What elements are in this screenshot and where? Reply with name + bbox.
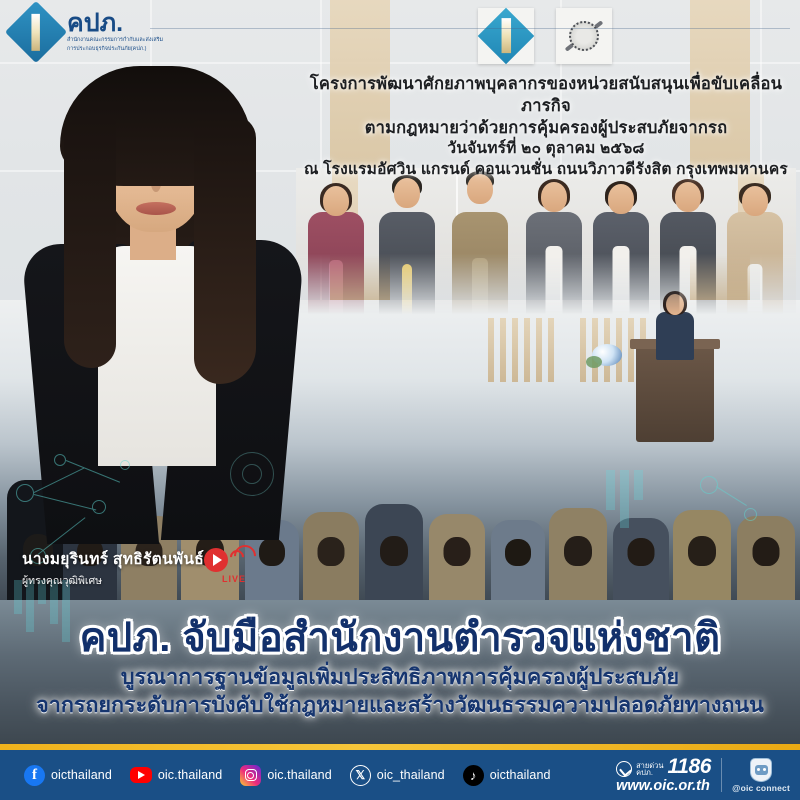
brand-subtitle-1: สำนักงานคณะกรรมการกำกับและส่งเสริม [67,37,163,44]
official-5 [592,184,650,316]
headline-sub-line1: บูรณาการฐานข้อมูลเพิ่มประสิทธิภาพการคุ้ม… [36,664,764,692]
social-x[interactable]: 𝕏 oic_thailand [350,765,445,786]
phone-icon [616,761,632,777]
event-date: วันจันทร์ที่ ๒๐ ตุลาคม ๒๕๖๘ [292,139,800,159]
instagram-handle: oic.thailand [267,768,331,782]
social-tiktok[interactable]: oicthailand [463,765,551,786]
tiktok-handle: oicthailand [490,768,551,782]
headline-block: คปภ. จับมือสำนักงานตำรวจแห่งชาติ บูรณากา… [0,600,800,736]
youtube-icon [130,767,152,783]
x-handle: oic_thailand [377,768,445,782]
brand-subtitle-2: การประกอบธุรกิจประกันภัย(คปภ.) [67,46,163,53]
contact-block: สายด่วน คปภ. 1186 www.oic.or.th @oic con… [616,756,800,794]
play-icon [204,548,228,572]
event-venue: ณ โรงแรมอัศวิน แกรนด์ คอนเวนชั่น ถนนวิภา… [292,160,800,180]
social-instagram[interactable]: oic.thailand [240,765,331,786]
live-badge: LIVE [198,544,254,588]
social-facebook[interactable]: f oicthailand [24,765,112,786]
event-title-block: โครงการพัฒนาศักยภาพบุคลากรของหน่วยสนับสน… [292,74,800,180]
police-emblem-card [556,8,612,64]
header-rule [150,28,790,29]
person-name: นางมยุรินทร์ สุทธิรัตนพันธ์ [22,546,204,571]
live-label: LIVE [222,574,246,584]
oic-brand-logo: คปภ. สำนักงานคณะกรรมการกำกับและส่งเสริม … [14,10,163,54]
event-title-line2: ตามกฎหมายว่าด้วยการคุ้มครองผู้ประสบภัยจา… [292,118,800,140]
hotline-label-2: คปภ. [636,769,663,777]
oic-emblem-card [478,8,534,64]
official-7 [726,186,784,316]
official-6 [658,182,718,316]
person-name-caption: นางมยุรินทร์ สุทธิรัตนพันธ์ ผู้ทรงคุณวุฒ… [22,546,204,589]
social-links: f oicthailand oic.thailand oic.thailand … [0,765,616,786]
hotline-number: 1186 [668,756,712,777]
chatbot-shield-icon [750,758,772,782]
hotline[interactable]: สายด่วน คปภ. 1186 www.oic.or.th [616,756,711,794]
website-url: www.oic.or.th [616,779,711,794]
official-3-police [448,174,512,316]
youtube-handle: oic.thailand [158,768,222,782]
person-role: ผู้ทรงคุณวุฒิพิเศษ [22,572,204,589]
diamond-emblem-icon [478,8,535,65]
oic-diamond-logo-icon [5,1,67,63]
x-twitter-icon: 𝕏 [350,765,371,786]
official-4 [524,182,584,316]
facebook-handle: oicthailand [51,768,112,782]
headline-main: คปภ. จับมือสำนักงานตำรวจแห่งชาติ [80,616,721,661]
official-2 [376,178,438,316]
social-youtube[interactable]: oic.thailand [130,767,222,783]
header-emblems [478,8,612,64]
footer-divider [721,758,722,792]
headline-sub-line2: จากรถยกระดับการบังคับใช้กฎหมายและสร้างวั… [36,692,764,720]
police-seal-emblem-icon [563,15,605,57]
footer-bar: f oicthailand oic.thailand oic.thailand … [0,750,800,800]
featured-person-portrait [20,58,292,618]
official-1 [306,186,366,316]
brand-acronym: คปภ. [67,11,163,35]
infographic-poster: โครงการพัฒนาศักยภาพบุคลากรของหน่วยสนับสน… [0,0,800,800]
group-photo [296,168,796,316]
instagram-icon [240,765,261,786]
tiktok-icon [463,765,484,786]
event-title-line1: โครงการพัฒนาศักยภาพบุคลากรของหน่วยสนับสน… [292,74,800,118]
oic-connect-label: @oic connect [732,783,790,793]
oic-connect-badge[interactable]: @oic connect [732,758,790,793]
facebook-icon: f [24,765,45,786]
